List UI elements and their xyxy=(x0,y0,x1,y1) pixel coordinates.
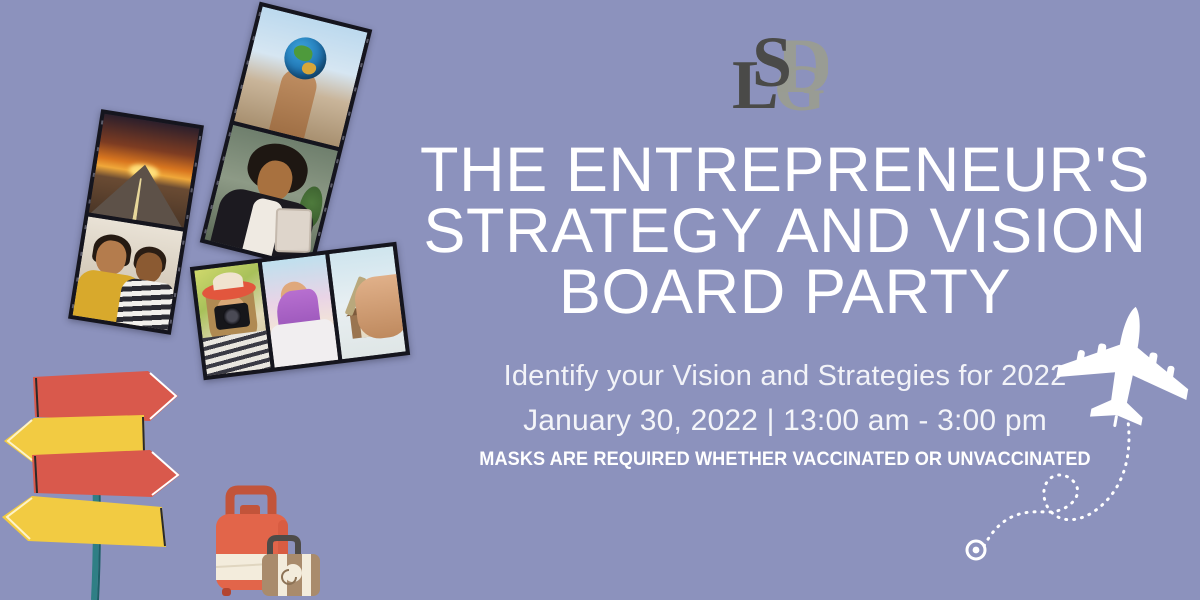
photo-house-keys xyxy=(329,246,405,359)
signpost-arrow-4 xyxy=(2,496,166,547)
photo-mother-and-child xyxy=(73,216,183,330)
signpost-arrow-3 xyxy=(32,450,180,497)
photo-desert-road-sunset xyxy=(89,114,199,228)
photo-woman-looking-up xyxy=(262,254,338,367)
signpost-arrow-1 xyxy=(33,371,178,421)
airplane-icon xyxy=(1050,300,1200,438)
logo-letter-l: L xyxy=(732,47,779,124)
page-title: THE ENTREPRENEUR'S STRATEGY AND VISION B… xyxy=(420,140,1150,323)
film-strip-road xyxy=(68,109,204,335)
travel-luggage xyxy=(192,472,324,600)
flight-trail xyxy=(984,408,1129,546)
directional-signpost xyxy=(0,355,210,600)
film-strip-globe xyxy=(200,2,373,271)
airplane-with-heart-trail xyxy=(940,300,1200,600)
sdlg-logo: D G S L xyxy=(718,14,828,124)
trail-origin-marker xyxy=(967,541,985,559)
event-poster: D G S L THE ENTREPRENEUR'S STRATEGY AND … xyxy=(0,0,1200,600)
small-suitcase xyxy=(262,538,320,596)
film-strip-trio xyxy=(190,242,410,380)
